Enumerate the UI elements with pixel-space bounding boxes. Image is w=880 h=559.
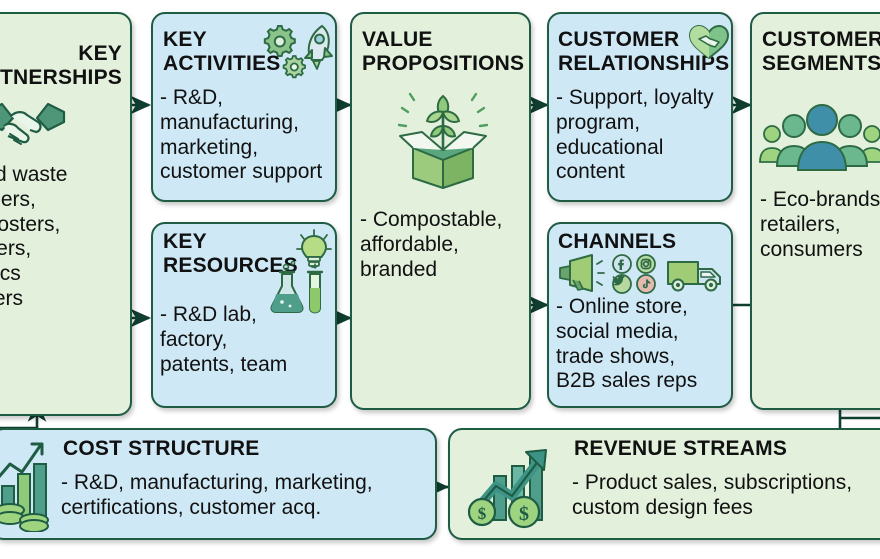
- key-activities-body: - R&D, manufacturing, marketing, custome…: [160, 86, 345, 185]
- cost-structure-title: COST STRUCTURE: [63, 437, 383, 461]
- value-propositions-title: VALUE PROPOSITIONS: [362, 28, 532, 75]
- bar-chart-coins-icon: [0, 440, 70, 532]
- channels-body: - Online store, social media, trade show…: [556, 295, 740, 394]
- people-group-icon: [758, 92, 880, 172]
- heart-handshake-icon: [686, 22, 732, 62]
- handshake-icon: [0, 92, 68, 154]
- revenue-streams-title: REVENUE STREAMS: [574, 437, 880, 461]
- value-propositions-body: - Compostable, affordable, branded: [360, 208, 538, 282]
- cost-structure-body: - R&D, manufacturing, marketing, certifi…: [61, 471, 441, 521]
- gear-rocket-icon: [262, 20, 334, 80]
- customer-relationships-body: - Support, loyalty program, educational …: [556, 86, 738, 185]
- channels-title: CHANNELS: [558, 230, 728, 254]
- megaphone-social-truck-icon: [556, 252, 730, 294]
- revenue-streams-body: - Product sales, subscriptions, custom d…: [572, 471, 880, 521]
- svg-text:$: $: [519, 503, 529, 525]
- key-partnerships-title: KEY PARTNERSHIPS: [0, 42, 132, 89]
- plant-in-box-icon: [388, 86, 498, 192]
- business-model-canvas: KEY PARTNERSHIPS - Food waste suppliers,…: [0, 0, 880, 559]
- key-resources-body: - R&D lab, factory, patents, team: [160, 303, 340, 377]
- lightbulb-flask-icon: [268, 226, 334, 314]
- key-partnerships-body: - Food waste suppliers, composters, cert…: [0, 163, 126, 312]
- growth-chart-dollar-icon: $ $: [466, 440, 562, 532]
- customer-segments-title: CUSTOMER SEGMENTS: [762, 28, 880, 75]
- svg-text:$: $: [478, 504, 487, 523]
- customer-segments-body: - Eco-brands, retailers, consumers: [760, 188, 880, 262]
